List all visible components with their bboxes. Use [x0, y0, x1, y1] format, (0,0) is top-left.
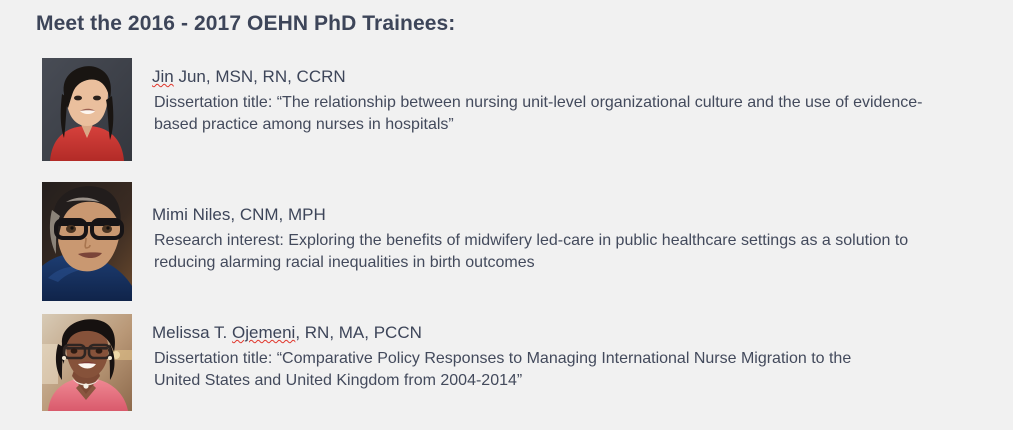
detail-line: based practice among nurses in hospitals… — [154, 114, 999, 136]
spellcheck-token: Jin — [152, 67, 174, 86]
detail-line: United States and United Kingdom from 20… — [154, 370, 999, 392]
page-title: Meet the 2016 - 2017 OEHN PhD Trainees: — [36, 12, 455, 36]
trainee-name: Jin Jun, MSN, RN, CCRN — [152, 66, 1002, 88]
detail-line: Dissertation title: “Comparative Policy … — [154, 348, 999, 370]
trainee-detail: Research interest: Exploring the benefit… — [154, 230, 999, 273]
trainee-name: Mimi Niles, CNM, MPH — [152, 204, 1002, 226]
detail-line: Dissertation title: “The relationship be… — [154, 92, 999, 114]
trainee-detail: Dissertation title: “The relationship be… — [154, 92, 999, 135]
trainee-name: Melissa T. Ojemeni, RN, MA, PCCN — [152, 322, 1002, 344]
portrait-jin-jun — [42, 58, 132, 161]
trainees-page: Meet the 2016 - 2017 OEHN PhD Trainees: — [0, 0, 1013, 430]
spellcheck-token: Ojemeni — [232, 323, 295, 342]
trainee-name-prefix: Melissa T. — [152, 323, 232, 342]
trainee-name-rest: , RN, MA, PCCN — [295, 323, 422, 342]
trainee-info: Mimi Niles, CNM, MPH Research interest: … — [152, 204, 1002, 273]
trainee-name-rest: Jun, MSN, RN, CCRN — [174, 67, 346, 86]
trainee-info: Melissa T. Ojemeni, RN, MA, PCCN Dissert… — [152, 322, 1002, 391]
portrait-melissa-ojemeni — [42, 314, 132, 411]
trainee-info: Jin Jun, MSN, RN, CCRN Dissertation titl… — [152, 66, 1002, 135]
detail-line: reducing alarming racial inequalities in… — [154, 252, 999, 274]
trainee-detail: Dissertation title: “Comparative Policy … — [154, 348, 999, 391]
portrait-mimi-niles — [42, 182, 132, 301]
detail-line: Research interest: Exploring the benefit… — [154, 230, 999, 252]
